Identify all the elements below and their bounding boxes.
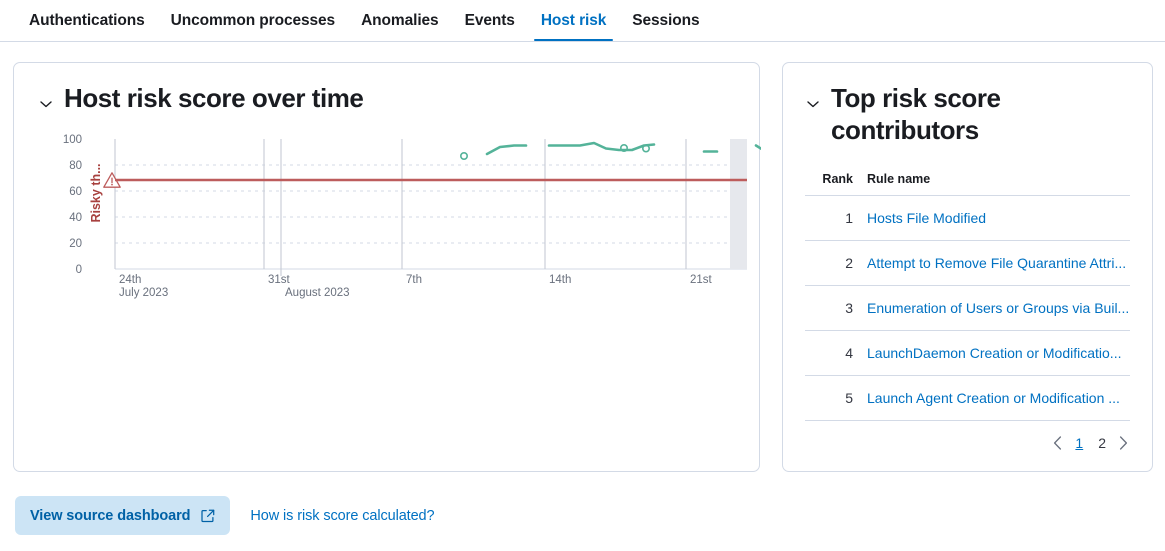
cell-rank: 1 [805, 196, 867, 241]
column-header-rank: Rank [805, 166, 867, 196]
top-risk-contributors-panel: Top risk score contributors Rank Rule na… [782, 62, 1153, 472]
cell-rank: 5 [805, 376, 867, 421]
risk-score-series [487, 142, 761, 154]
rule-link[interactable]: Enumeration of Users or Groups via Buil.… [867, 300, 1130, 316]
y-gridlines [115, 165, 747, 243]
svg-text:31st: 31st [268, 274, 291, 286]
svg-text:40: 40 [69, 212, 82, 224]
table-row: 1 Hosts File Modified [805, 196, 1130, 241]
svg-text:July 2023: July 2023 [119, 287, 168, 299]
cell-rank: 2 [805, 241, 867, 286]
pagination-page-1[interactable]: 1 [1073, 435, 1085, 451]
svg-text:7th: 7th [406, 274, 422, 286]
table-row: 3 Enumeration of Users or Groups via Bui… [805, 286, 1130, 331]
table-row: 2 Attempt to Remove File Quarantine Attr… [805, 241, 1130, 286]
x-axis-labels: 24th 31st 7th 14th 21st [119, 274, 713, 286]
svg-text:24th: 24th [119, 274, 141, 286]
series-segment-1 [487, 145, 526, 154]
tab-uncommon-processes[interactable]: Uncommon processes [158, 0, 348, 41]
series-segment-2 [549, 143, 654, 150]
svg-text:60: 60 [69, 186, 82, 198]
rule-link[interactable]: LaunchDaemon Creation or Modificatio... [867, 345, 1130, 361]
cell-rank: 4 [805, 331, 867, 376]
footer-actions: View source dashboard How is risk score … [15, 496, 434, 535]
pagination-previous-icon[interactable] [1053, 436, 1062, 450]
risk-score-line-chart[interactable]: 100 80 60 40 20 0 Risky th... [14, 131, 761, 311]
svg-text:21st: 21st [690, 274, 713, 286]
pagination-next-icon[interactable] [1119, 436, 1128, 450]
cell-rule-name: Enumeration of Users or Groups via Buil.… [867, 286, 1130, 331]
column-header-rule-name: Rule name [867, 166, 1130, 196]
how-is-risk-score-calculated-link[interactable]: How is risk score calculated? [244, 508, 434, 524]
cell-rule-name: Attempt to Remove File Quarantine Attri.… [867, 241, 1130, 286]
cell-rule-name: LaunchDaemon Creation or Modificatio... [867, 331, 1130, 376]
view-source-dashboard-label: View source dashboard [30, 508, 190, 524]
x-gridlines [115, 139, 686, 276]
chevron-down-icon[interactable] [805, 96, 821, 112]
tab-anomalies[interactable]: Anomalies [348, 0, 452, 41]
series-segment-4 [756, 142, 761, 153]
contributors-panel-title: Top risk score contributors [831, 83, 1081, 146]
x-axis-secondary-labels: July 2023 August 2023 [119, 287, 350, 299]
chart-svg: 100 80 60 40 20 0 Risky th... [14, 131, 761, 311]
pagination: 1 2 [783, 421, 1152, 451]
tab-authentications[interactable]: Authentications [16, 0, 158, 41]
svg-text:August 2023: August 2023 [285, 287, 350, 299]
tab-host-risk[interactable]: Host risk [528, 0, 619, 41]
y-axis-labels: 100 80 60 40 20 0 [63, 134, 82, 276]
table-header-row: Rank Rule name [805, 166, 1130, 196]
tab-bar: Authentications Uncommon processes Anoma… [0, 0, 1165, 42]
cell-rule-name: Hosts File Modified [867, 196, 1130, 241]
no-data-region [730, 139, 747, 269]
table-row: 4 LaunchDaemon Creation or Modificatio..… [805, 331, 1130, 376]
view-source-dashboard-button[interactable]: View source dashboard [15, 496, 230, 535]
rule-link[interactable]: Hosts File Modified [867, 210, 1130, 226]
host-risk-chart-panel: Host risk score over time [13, 62, 760, 472]
chart-panel-header: Host risk score over time [14, 63, 759, 115]
contributors-table: Rank Rule name 1 Hosts File Modified 2 [805, 166, 1130, 421]
svg-text:0: 0 [76, 264, 82, 276]
chart-panel-title: Host risk score over time [64, 83, 363, 115]
external-link-icon [201, 509, 215, 523]
table-row: 5 Launch Agent Creation or Modification … [805, 376, 1130, 421]
host-risk-page: Authentications Uncommon processes Anoma… [0, 0, 1165, 551]
pagination-page-2[interactable]: 2 [1096, 435, 1108, 451]
svg-text:80: 80 [69, 160, 82, 172]
tab-sessions[interactable]: Sessions [619, 0, 712, 41]
contributors-table-wrapper: Rank Rule name 1 Hosts File Modified 2 [783, 166, 1152, 421]
svg-text:20: 20 [69, 238, 82, 250]
risky-threshold-label: Risky th... [89, 163, 103, 222]
chevron-down-icon[interactable] [38, 96, 54, 112]
cell-rule-name: Launch Agent Creation or Modification ..… [867, 376, 1130, 421]
svg-text:100: 100 [63, 134, 82, 146]
contributors-panel-header: Top risk score contributors [783, 63, 1152, 146]
cell-rank: 3 [805, 286, 867, 331]
rule-link[interactable]: Attempt to Remove File Quarantine Attri.… [867, 255, 1130, 271]
series-point-marker [461, 153, 467, 159]
tab-events[interactable]: Events [452, 0, 528, 41]
svg-text:14th: 14th [549, 274, 571, 286]
rule-link[interactable]: Launch Agent Creation or Modification ..… [867, 390, 1130, 406]
